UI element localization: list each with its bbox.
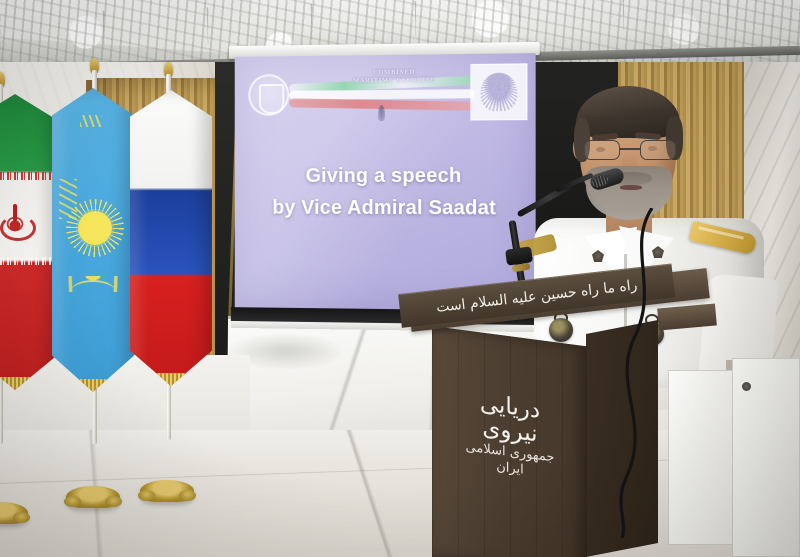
- flag-fringe: [52, 379, 134, 392]
- kufic-border-bottom: [0, 257, 58, 265]
- slide-header-title-line2: MARITIME EXERCISE: [328, 76, 460, 85]
- flag-cloth-iran: [0, 94, 58, 390]
- flag-russia: [136, 66, 232, 442]
- flag-fringe: [0, 377, 58, 390]
- cabinet-knob-icon[interactable]: [742, 382, 751, 391]
- lens-right: [640, 140, 676, 160]
- flag-cloth-russia: [130, 90, 212, 386]
- slide-text-line2: by Vice Admiral Saadat: [235, 197, 536, 221]
- flag-cloth-kazakhstan: [52, 88, 134, 392]
- podium-calligraphy: دریایی نیروی جمهوری اسلامی ایران: [455, 387, 565, 521]
- shield-emblem-icon: [248, 74, 289, 116]
- podium-ledge: [657, 304, 717, 331]
- mouth: [620, 185, 642, 190]
- slide-text-line1: Giving a speech: [235, 165, 536, 188]
- slide-header-title: COMBINED MARITIME EXERCISE: [328, 68, 460, 85]
- podium-side-panel: [586, 320, 658, 557]
- lens-left: [584, 140, 620, 160]
- slide-body: Giving a speech by Vice Admiral Saadat: [235, 165, 536, 221]
- flag-fringe: [130, 373, 212, 386]
- photo-scene: COMBINED MARITIME EXERCISE Giving a spee…: [0, 0, 800, 557]
- eagle-emblem-icon: [470, 63, 527, 120]
- white-cabinet-door-left[interactable]: [668, 370, 734, 545]
- slide-header: COMBINED MARITIME EXERCISE: [235, 59, 536, 128]
- projected-slide: COMBINED MARITIME EXERCISE Giving a spee…: [235, 53, 536, 313]
- kazakh-ornament-top: [80, 115, 102, 127]
- iran-emblem-icon: [0, 209, 32, 239]
- glasses-bridge: [620, 148, 640, 150]
- steppe-eagle-icon: [65, 276, 121, 292]
- hair: [576, 86, 680, 138]
- kufic-border-top: [0, 172, 58, 180]
- sun-disc-icon: [78, 211, 112, 245]
- flag-stand-base: [66, 486, 120, 508]
- center-emblem-icon: [378, 105, 385, 121]
- flag-stand-base: [140, 480, 194, 502]
- projection-screen[interactable]: COMBINED MARITIME EXERCISE Giving a spee…: [235, 53, 536, 313]
- microphone-arm-upper: [555, 173, 594, 193]
